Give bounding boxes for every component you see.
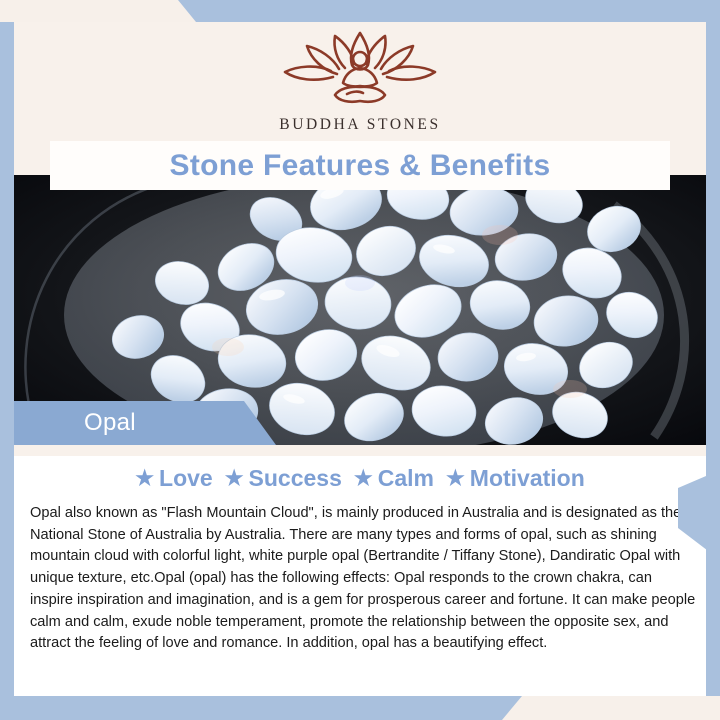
description-text: Opal also known as "Flash Mountain Cloud… [30,503,698,655]
benefit-label: Motivation [470,465,585,492]
benefit-item-motivation: ★ Motivation [446,465,585,492]
benefits-list: ★ Love ★ Success ★ Calm ★ Motivation [14,461,706,495]
page-title: Stone Features & Benefits [170,149,551,183]
brand-logo: BUDDHA STONES [275,30,445,134]
benefit-label: Success [249,465,342,492]
star-icon: ★ [446,468,465,489]
brand-name-text: BUDDHA STONES [279,116,440,134]
benefit-label: Love [159,465,213,492]
benefit-item-love: ★ Love [135,465,213,492]
benefit-item-calm: ★ Calm [354,465,434,492]
header-section: BUDDHA STONES Stone Features & Benefits [14,22,706,175]
title-strip: Stone Features & Benefits [50,141,670,190]
description-panel: ★ Love ★ Success ★ Calm ★ Motivation Opa… [14,445,706,696]
star-icon: ★ [354,468,373,489]
left-accent-rail [0,22,14,696]
stone-name-label: Opal [84,409,136,437]
right-accent-rail [706,22,720,696]
benefit-label: Calm [378,465,434,492]
star-icon: ★ [135,468,154,489]
product-photo: Opal [14,175,706,445]
lotus-meditation-icon [275,30,445,113]
benefit-item-success: ★ Success [225,465,342,492]
star-icon: ★ [225,468,244,489]
panel-top-divider [14,445,706,456]
stone-label-banner: Opal [14,401,276,445]
top-corner-notch [0,0,200,22]
